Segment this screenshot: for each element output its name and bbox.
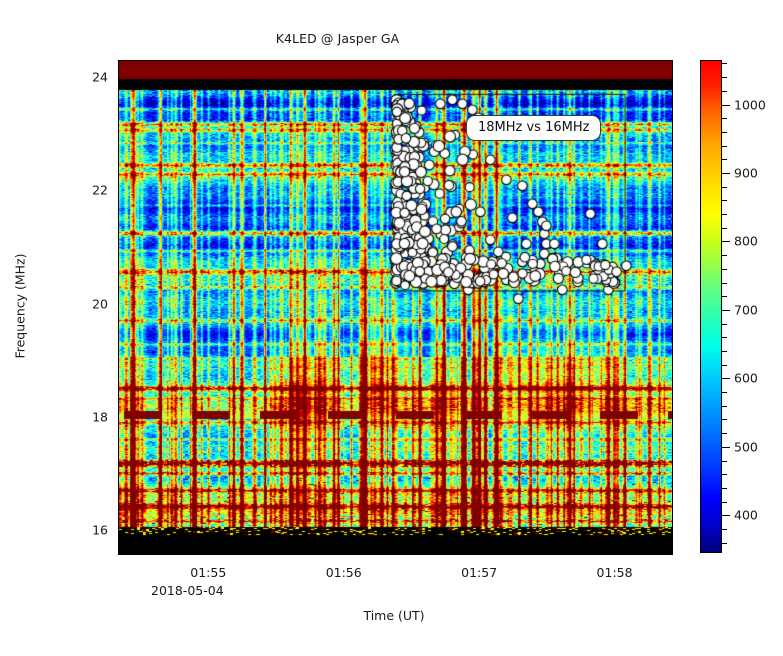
y-tick-label: 18: [92, 410, 108, 425]
colorbar-tick-minor: [722, 159, 727, 160]
x-tick-minor: [322, 60, 323, 61]
x-tick-label: 01:55: [190, 565, 226, 580]
x-tick-minor: [187, 554, 188, 555]
x-tick-minor: [627, 60, 628, 61]
colorbar-tick-minor: [722, 406, 727, 407]
x-axis-title: Time (UT): [363, 608, 424, 623]
y-tick-major: [672, 418, 673, 419]
colorbar-gradient: [700, 60, 722, 553]
x-tick-minor: [491, 60, 492, 61]
x-tick-minor: [221, 60, 222, 61]
colorbar-tick-minor: [722, 474, 727, 475]
colorbar-tick-minor: [722, 488, 727, 489]
y-tick-label: 16: [92, 523, 108, 538]
y-tick-major: [672, 191, 673, 192]
x-tick-major: [209, 554, 210, 555]
y-tick-major: [118, 418, 119, 419]
colorbar-tick-label: 600: [734, 371, 758, 386]
y-tick-label: 20: [92, 296, 108, 311]
x-tick-minor: [661, 60, 662, 61]
colorbar-tick-minor: [722, 214, 727, 215]
x-tick-minor: [424, 60, 425, 61]
x-tick-minor: [559, 60, 560, 61]
y-tick-major: [118, 78, 119, 79]
y-tick-minor: [118, 361, 119, 362]
colorbar-tick-minor: [722, 269, 727, 270]
colorbar-tick-minor: [722, 187, 727, 188]
x-tick-minor: [491, 554, 492, 555]
colorbar-tick-minor: [722, 324, 727, 325]
colorbar-tick-major: [722, 241, 730, 242]
y-tick-major: [672, 78, 673, 79]
colorbar-tick-minor: [722, 392, 727, 393]
x-tick-minor: [525, 60, 526, 61]
x-tick-minor: [187, 60, 188, 61]
y-tick-major: [118, 191, 119, 192]
y-tick-major: [672, 531, 673, 532]
x-tick-major: [616, 554, 617, 555]
x-tick-minor: [458, 60, 459, 61]
colorbar-tick-major: [722, 515, 730, 516]
y-tick-minor: [672, 135, 673, 136]
x-tick-minor: [153, 554, 154, 555]
colorbar-tick-minor: [722, 296, 727, 297]
colorbar-tick-major: [722, 310, 730, 311]
x-tick-minor: [288, 554, 289, 555]
colorbar-tick-label: 400: [734, 508, 758, 523]
colorbar-tick-label: 800: [734, 234, 758, 249]
x-tick-minor: [593, 554, 594, 555]
y-tick-label: 24: [92, 70, 108, 85]
x-tick-minor: [322, 554, 323, 555]
x-tick-label: 01:56: [326, 565, 362, 580]
spectrogram-figure: K4LED @ Jasper GA 1618202224 01:5501:560…: [0, 0, 783, 656]
colorbar-tick-major: [722, 447, 730, 448]
colorbar-tick-minor: [722, 77, 727, 78]
colorbar-tick-minor: [722, 502, 727, 503]
colorbar-tick-label: 700: [734, 302, 758, 317]
colorbar-tick-minor: [722, 419, 727, 420]
y-tick-minor: [672, 248, 673, 249]
colorbar-tick-major: [722, 378, 730, 379]
y-tick-minor: [118, 135, 119, 136]
x-tick-minor: [424, 554, 425, 555]
colorbar-tick-minor: [722, 283, 727, 284]
x-tick-minor: [627, 554, 628, 555]
annotation-label: 18MHz vs 16MHz: [466, 115, 601, 141]
x-tick-minor: [559, 554, 560, 555]
x-tick-minor: [525, 554, 526, 555]
colorbar-tick-label: 900: [734, 165, 758, 180]
y-axis-title: Frequency (MHz): [13, 253, 28, 358]
x-tick-minor: [390, 554, 391, 555]
colorbar-tick-minor: [722, 146, 727, 147]
colorbar-tick-major: [722, 173, 730, 174]
x-tick-major: [345, 554, 346, 555]
colorbar-tick-label: 500: [734, 439, 758, 454]
y-tick-major: [118, 531, 119, 532]
colorbar-tick-minor: [722, 543, 727, 544]
colorbar-tick-minor: [722, 365, 727, 366]
colorbar-tick-minor: [722, 351, 727, 352]
colorbar-tick-minor: [722, 461, 727, 462]
x-tick-minor: [593, 60, 594, 61]
x-tick-minor: [390, 60, 391, 61]
colorbar-tick-minor: [722, 433, 727, 434]
y-tick-minor: [672, 361, 673, 362]
x-axis-date-label: 2018-05-04: [151, 583, 224, 598]
x-tick-label: 01:57: [461, 565, 497, 580]
colorbar-tick-label: 1000: [734, 97, 766, 112]
x-tick-minor: [356, 554, 357, 555]
y-tick-label: 22: [92, 183, 108, 198]
colorbar-tick-minor: [722, 118, 727, 119]
x-tick-major: [480, 554, 481, 555]
colorbar-tick-minor: [722, 228, 727, 229]
colorbar: 4005006007008009001000: [700, 60, 722, 553]
colorbar-tick-minor: [722, 529, 727, 530]
x-tick-major: [209, 60, 210, 61]
x-tick-minor: [288, 60, 289, 61]
x-tick-minor: [458, 554, 459, 555]
y-tick-minor: [118, 475, 119, 476]
x-tick-minor: [661, 554, 662, 555]
y-tick-minor: [672, 475, 673, 476]
x-tick-minor: [153, 60, 154, 61]
x-tick-label: 01:58: [597, 565, 633, 580]
colorbar-tick-minor: [722, 255, 727, 256]
x-tick-major: [345, 60, 346, 61]
colorbar-tick-minor: [722, 337, 727, 338]
y-tick-major: [672, 305, 673, 306]
colorbar-tick-minor: [722, 91, 727, 92]
y-tick-major: [118, 305, 119, 306]
colorbar-tick-major: [722, 105, 730, 106]
x-tick-major: [616, 60, 617, 61]
x-tick-minor: [221, 554, 222, 555]
y-tick-minor: [118, 248, 119, 249]
x-tick-minor: [254, 60, 255, 61]
colorbar-tick-minor: [722, 63, 727, 64]
x-tick-major: [480, 60, 481, 61]
x-tick-minor: [356, 60, 357, 61]
page-title: K4LED @ Jasper GA: [0, 31, 675, 46]
colorbar-tick-minor: [722, 200, 727, 201]
x-tick-minor: [254, 554, 255, 555]
colorbar-tick-minor: [722, 132, 727, 133]
